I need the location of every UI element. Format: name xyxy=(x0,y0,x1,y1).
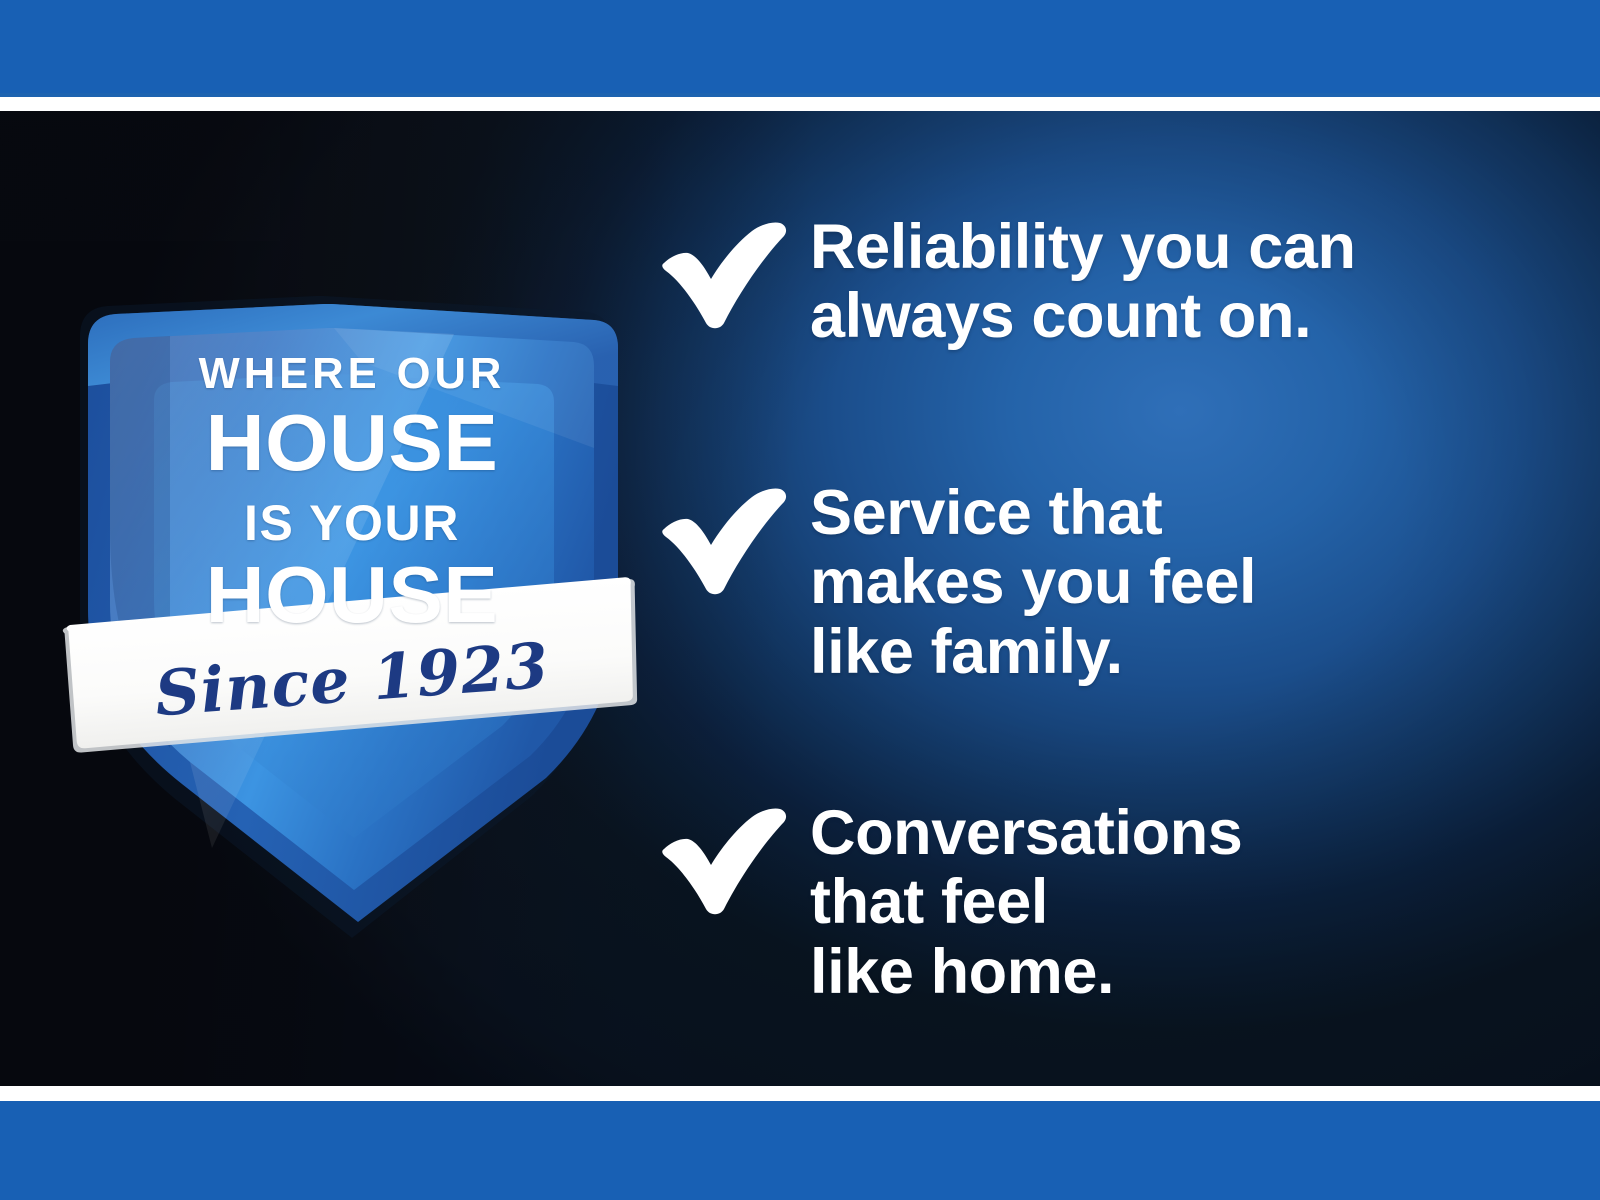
list-item: Reliability you can always count on. xyxy=(660,213,1356,352)
benefits-list: Reliability you can always count on. Ser… xyxy=(660,111,1560,1086)
bottom-brand-bar xyxy=(0,1101,1600,1200)
checkmark-icon xyxy=(660,479,810,597)
list-item-text: Reliability you can always count on. xyxy=(810,213,1356,352)
top-brand-bar xyxy=(0,0,1600,97)
promo-graphic-canvas: WHERE OUR HOUSE IS YOUR HOUSE Since 1923… xyxy=(0,0,1600,1200)
checkmark-icon xyxy=(660,799,810,917)
top-white-divider xyxy=(0,97,1600,111)
list-item: Service that makes you feel like family. xyxy=(660,479,1256,687)
checkmark-icon xyxy=(660,213,810,331)
list-item-text: Service that makes you feel like family. xyxy=(810,479,1256,687)
list-item: Conversations that feel like home. xyxy=(660,799,1242,1007)
bottom-white-divider xyxy=(0,1086,1600,1101)
company-badge: WHERE OUR HOUSE IS YOUR HOUSE Since 1923 xyxy=(62,148,642,828)
list-item-text: Conversations that feel like home. xyxy=(810,799,1242,1007)
